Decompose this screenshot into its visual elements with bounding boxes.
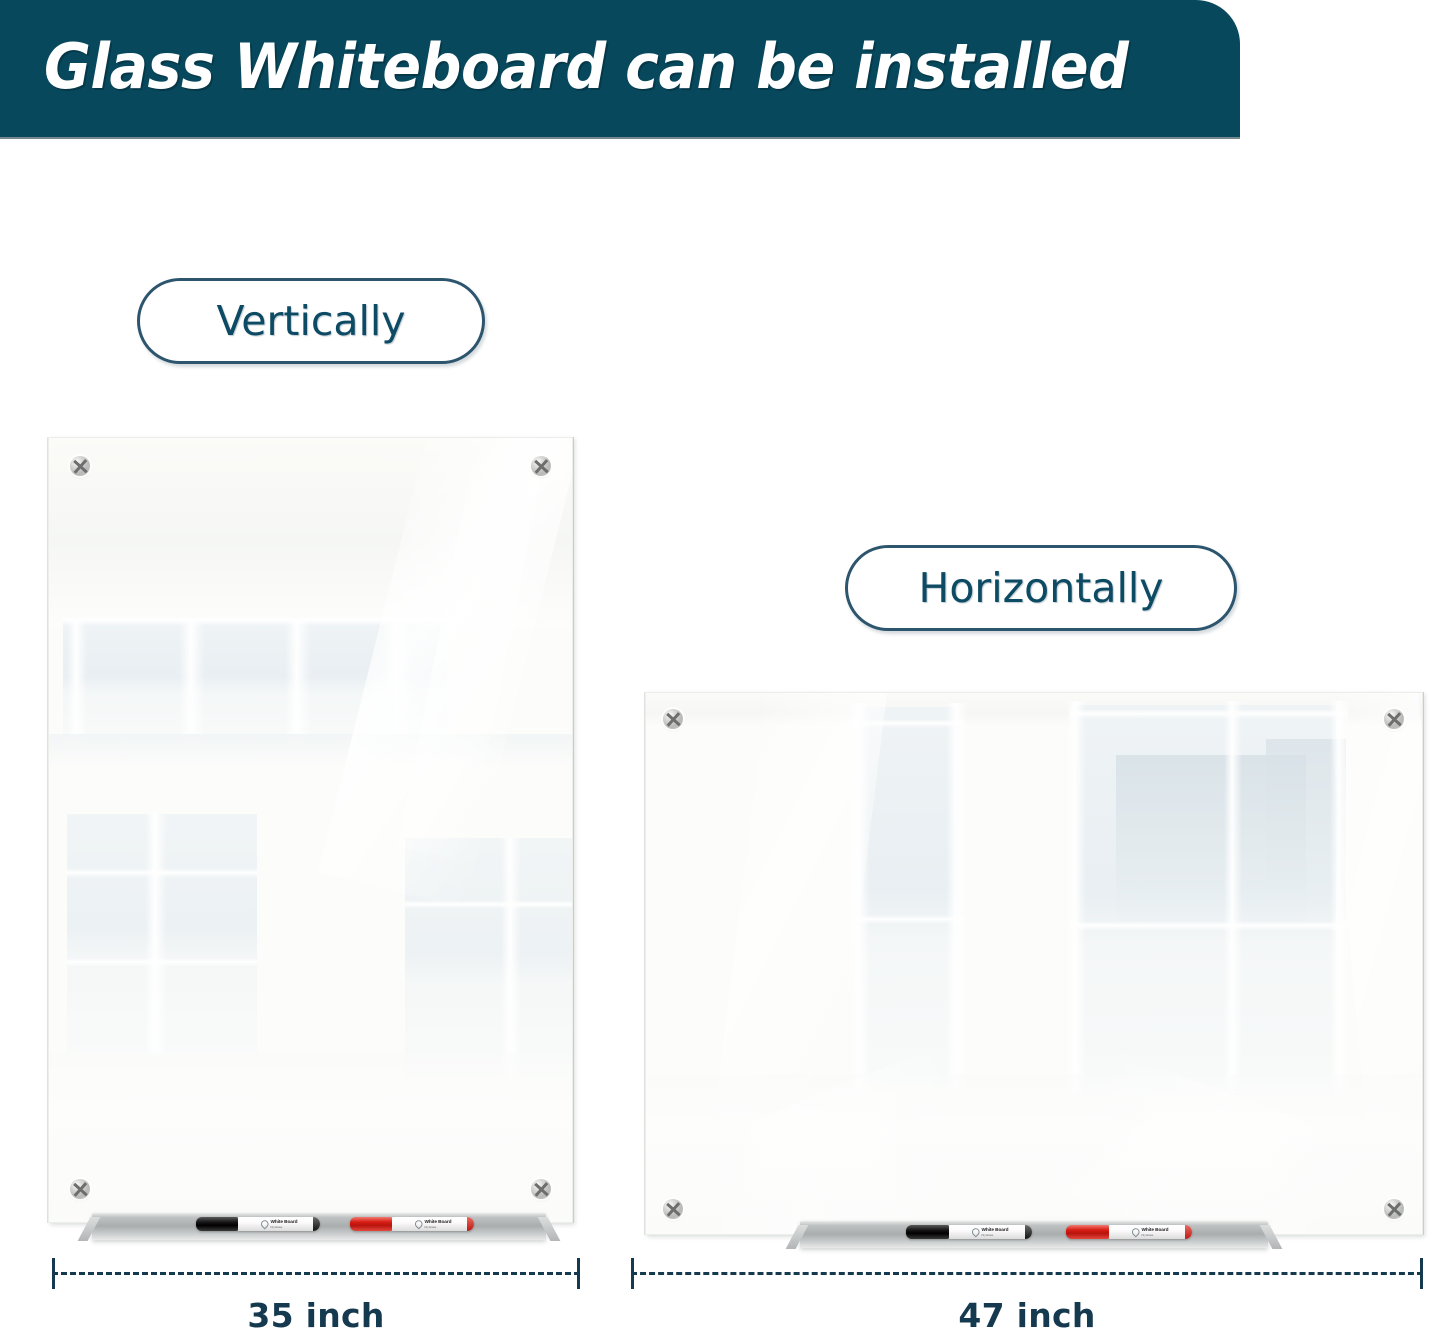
marker-logo-icon	[971, 1227, 982, 1238]
reflection-mullion	[145, 814, 167, 1054]
badge-vertically-label: Vertically	[216, 297, 405, 345]
glass-reflection-horizontal	[646, 693, 1422, 1234]
badge-vertically: Vertically	[137, 278, 485, 364]
marker-brand-sub: Dry Erase	[982, 1233, 1009, 1236]
reflection-transom	[63, 616, 447, 626]
corner-mount-icon	[531, 1179, 551, 1199]
reflection-left-window	[858, 707, 958, 1085]
reflection-floor-streak	[1049, 1046, 1382, 1235]
reflection-right-window	[405, 838, 573, 1078]
marker-body: White Board Dry Erase	[238, 1217, 320, 1231]
marker-tray-vertical: White Board Dry Erase White Board Dry Er…	[92, 1213, 546, 1240]
reflection-transom	[67, 868, 257, 878]
reflection-floor-streak	[687, 1050, 984, 1235]
marker-brand-sub: Dry Erase	[424, 1225, 451, 1228]
dimension-end-cap	[1420, 1258, 1423, 1289]
reflection-transom	[852, 915, 964, 924]
marker-branding: White Board Dry Erase	[972, 1228, 1008, 1236]
marker-red: White Board Dry Erase	[350, 1217, 474, 1231]
reflection-wall-band	[49, 734, 573, 768]
reflection-ceiling	[646, 693, 1422, 729]
glass-reflection-vertical	[49, 438, 572, 1222]
glass-whiteboard-vertical	[48, 437, 573, 1223]
reflection-light-streak	[1326, 692, 1423, 1136]
reflection-left-window	[67, 814, 257, 1054]
reflection-floor	[49, 1052, 572, 1222]
marker-logo-icon	[259, 1219, 270, 1230]
marker-cap-icon	[350, 1217, 392, 1231]
corner-mount-icon	[1384, 1199, 1404, 1219]
marker-cap-icon	[196, 1217, 238, 1231]
reflection-mullion	[285, 620, 311, 738]
glass-whiteboard-horizontal	[645, 692, 1423, 1235]
marker-body: White Board Dry Erase	[949, 1225, 1032, 1239]
corner-mount-icon	[70, 1179, 90, 1199]
reflection-light-streak	[318, 437, 573, 908]
reflection-building	[1266, 739, 1346, 919]
marker-body: White Board Dry Erase	[392, 1217, 474, 1231]
header-banner: Glass Whiteboard can be installed	[0, 0, 1240, 137]
reflection-transom	[67, 958, 257, 967]
reflection-transom	[405, 900, 573, 909]
dimension-dashed-line	[631, 1272, 1423, 1275]
marker-cap-icon	[1066, 1225, 1109, 1239]
marker-black: White Board Dry Erase	[906, 1225, 1032, 1239]
reflection-mullion	[67, 620, 87, 738]
corner-mount-icon	[663, 709, 683, 729]
reflection-light-streak	[398, 437, 554, 860]
reflection-mullion	[946, 703, 968, 1088]
marker-branding: White Board Dry Erase	[261, 1220, 297, 1228]
dimension-label-vertical: 35 inch	[52, 1296, 580, 1335]
marker-logo-icon	[413, 1219, 424, 1230]
reflection-mullion	[850, 703, 870, 1088]
page-title: Glass Whiteboard can be installed	[44, 30, 1128, 103]
dimension-vertical: 35 inch	[52, 1258, 580, 1290]
reflection-transom	[1070, 709, 1348, 719]
reflection-corner-window	[1076, 705, 1336, 1095]
corner-mount-icon	[663, 1199, 683, 1219]
marker-branding: White Board Dry Erase	[415, 1220, 451, 1228]
dimension-horizontal: 47 inch	[631, 1258, 1423, 1290]
reflection-transom	[852, 719, 964, 728]
dimension-end-cap	[577, 1258, 580, 1289]
reflection-light-streak	[713, 692, 891, 1139]
reflection-mullion	[1330, 701, 1350, 1093]
dimension-dashed-line	[52, 1272, 580, 1275]
reflection-floor	[646, 1074, 1422, 1234]
badge-horizontally-label: Horizontally	[919, 564, 1164, 612]
badge-horizontally: Horizontally	[845, 545, 1237, 631]
reflection-ceiling	[49, 438, 572, 628]
marker-branding: White Board Dry Erase	[1132, 1228, 1168, 1236]
reflection-transom	[1070, 921, 1348, 931]
corner-mount-icon	[70, 456, 90, 476]
marker-red: White Board Dry Erase	[1066, 1225, 1192, 1239]
marker-logo-icon	[1131, 1227, 1142, 1238]
marker-cap-icon	[906, 1225, 949, 1239]
marker-tray-horizontal: White Board Dry Erase White Board Dry Er…	[800, 1221, 1268, 1248]
reflection-mullion	[1224, 701, 1242, 1093]
dimension-label-horizontal: 47 inch	[631, 1296, 1423, 1335]
marker-brand-sub: Dry Erase	[270, 1225, 297, 1228]
reflection-mullion	[179, 620, 205, 738]
reflection-mullion	[385, 620, 411, 738]
reflection-mullion	[1066, 701, 1086, 1093]
marker-body: White Board Dry Erase	[1109, 1225, 1192, 1239]
reflection-upper-window	[63, 620, 447, 738]
reflection-building	[1116, 755, 1306, 925]
corner-mount-icon	[531, 456, 551, 476]
marker-brand-sub: Dry Erase	[1142, 1233, 1169, 1236]
corner-mount-icon	[1384, 709, 1404, 729]
reflection-mullion	[501, 838, 521, 1078]
marker-black: White Board Dry Erase	[196, 1217, 320, 1231]
